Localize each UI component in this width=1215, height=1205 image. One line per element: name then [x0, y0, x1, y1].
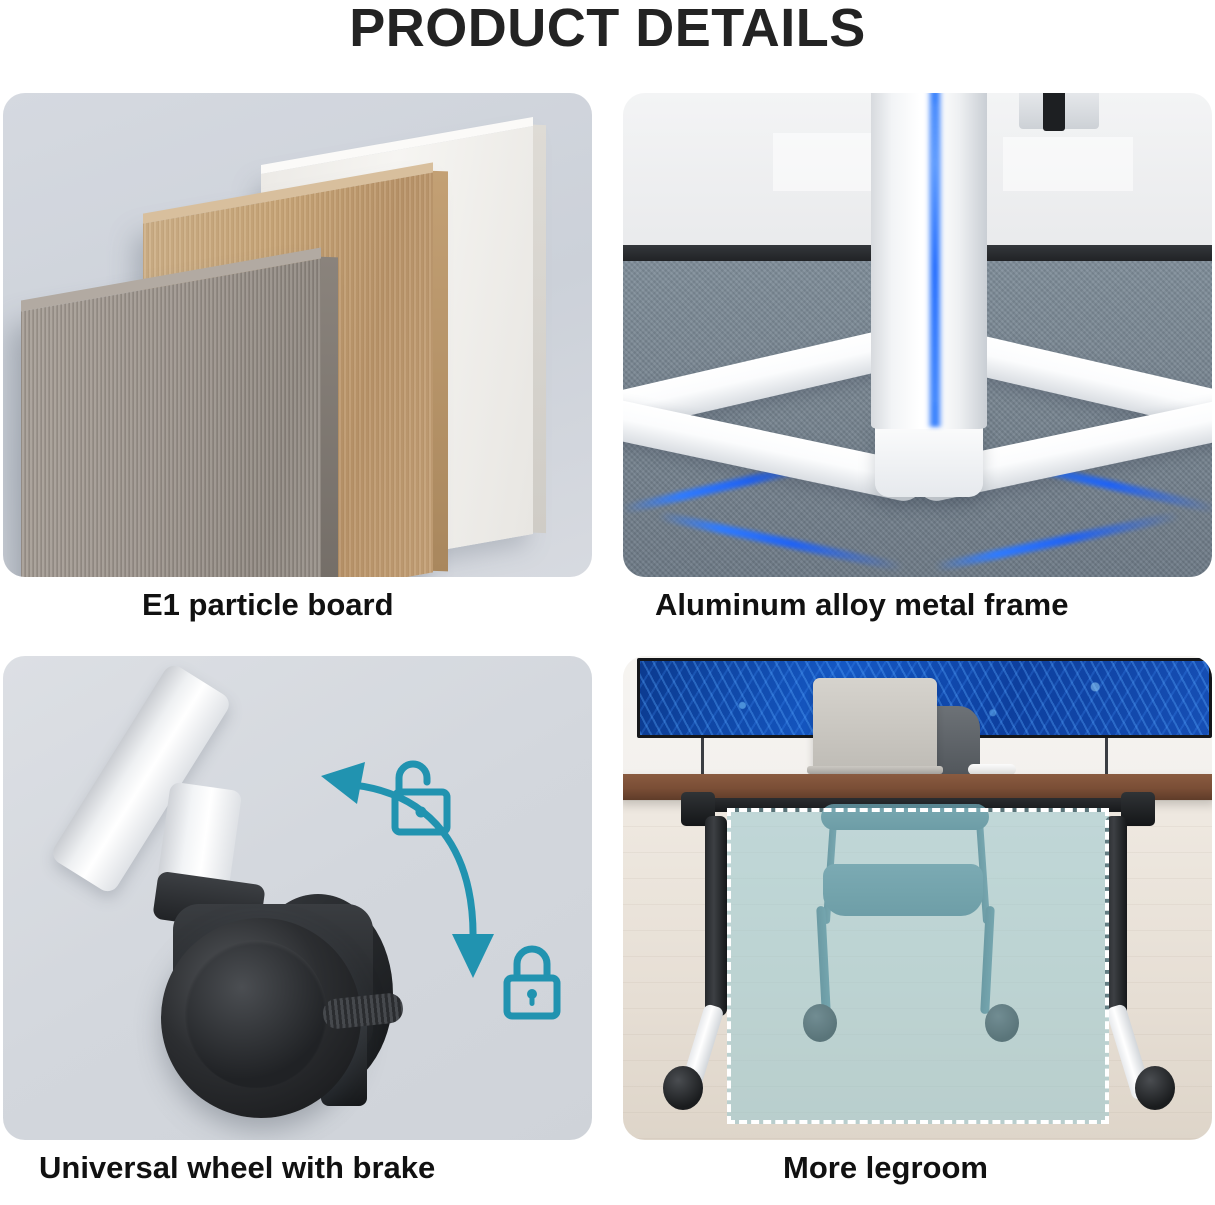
- laptop-base: [807, 766, 943, 774]
- particle-board-photo: [3, 93, 592, 577]
- caption-legroom: More legroom: [623, 1148, 1212, 1188]
- wall-panel-right: [1003, 137, 1133, 191]
- gray-board-face: [21, 259, 321, 577]
- legroom-highlight-area: [727, 808, 1109, 1124]
- lock-icon: [493, 938, 571, 1024]
- desk-caster-left: [663, 1066, 703, 1110]
- page-title: PRODUCT DETAILS: [0, 0, 1215, 58]
- details-grid: E1 particle board: [3, 93, 1212, 1201]
- white-board-side-edge: [533, 125, 546, 533]
- table-clamp-knob: [1043, 93, 1065, 131]
- detail-card-particle-board: E1 particle board: [3, 93, 592, 578]
- detail-card-legroom: More legroom: [623, 656, 1212, 1141]
- caption-universal-wheel: Universal wheel with brake: [3, 1148, 592, 1188]
- blue-glow-column: [927, 93, 943, 427]
- unlock-icon: [381, 752, 459, 838]
- detail-card-metal-frame: Aluminum alloy metal frame: [623, 93, 1212, 578]
- wood-board-side-edge: [433, 171, 448, 572]
- laptop: [813, 678, 937, 770]
- universal-wheel-photo: [3, 656, 592, 1140]
- detail-card-universal-wheel: Universal wheel with brake: [3, 656, 592, 1141]
- product-details-page: PRODUCT DETAILS: [0, 0, 1215, 1205]
- caption-metal-frame: Aluminum alloy metal frame: [623, 585, 1212, 625]
- gray-board-side-edge: [321, 257, 338, 577]
- desk-caster-right: [1135, 1066, 1175, 1110]
- legroom-photo: [623, 656, 1212, 1140]
- metal-frame-photo: [623, 93, 1212, 577]
- desk-post-left: [705, 816, 727, 1016]
- caption-particle-board: E1 particle board: [3, 585, 592, 625]
- gray-board-sample: [21, 259, 321, 577]
